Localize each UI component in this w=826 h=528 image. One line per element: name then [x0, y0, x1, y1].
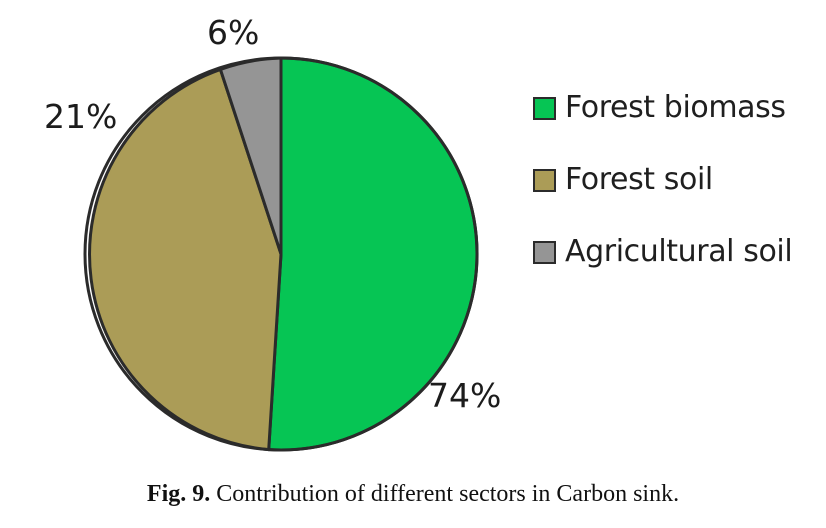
legend-label-forest-soil: Forest soil	[565, 165, 713, 195]
legend-swatch-icon-agricultural-soil	[533, 241, 556, 264]
pie-label-forest-soil: 21%	[44, 100, 117, 133]
pie-chart: 6% 21% 74%	[0, 0, 520, 470]
legend-item-forest-biomass[interactable]: Forest biomass	[533, 72, 823, 144]
chart-legend: Forest biomass Forest soil Agricultural …	[533, 72, 823, 288]
figure-container: 6% 21% 74% Forest biomass Forest soil Ag…	[0, 0, 826, 528]
pie-label-agricultural-soil: 6%	[207, 16, 259, 49]
figure-caption-number: Fig. 9.	[147, 481, 210, 507]
legend-label-agricultural-soil: Agricultural soil	[565, 237, 792, 267]
legend-swatch-icon-forest-biomass	[533, 97, 556, 120]
legend-swatch-icon-forest-soil	[533, 169, 556, 192]
legend-item-agricultural-soil[interactable]: Agricultural soil	[533, 216, 823, 288]
legend-label-forest-biomass: Forest biomass	[565, 93, 786, 123]
figure-caption: Fig. 9. Contribution of different sector…	[0, 481, 826, 508]
pie-label-forest-biomass: 74%	[428, 379, 501, 412]
figure-caption-text: Contribution of different sectors in Car…	[216, 481, 679, 507]
legend-item-forest-soil[interactable]: Forest soil	[533, 144, 823, 216]
